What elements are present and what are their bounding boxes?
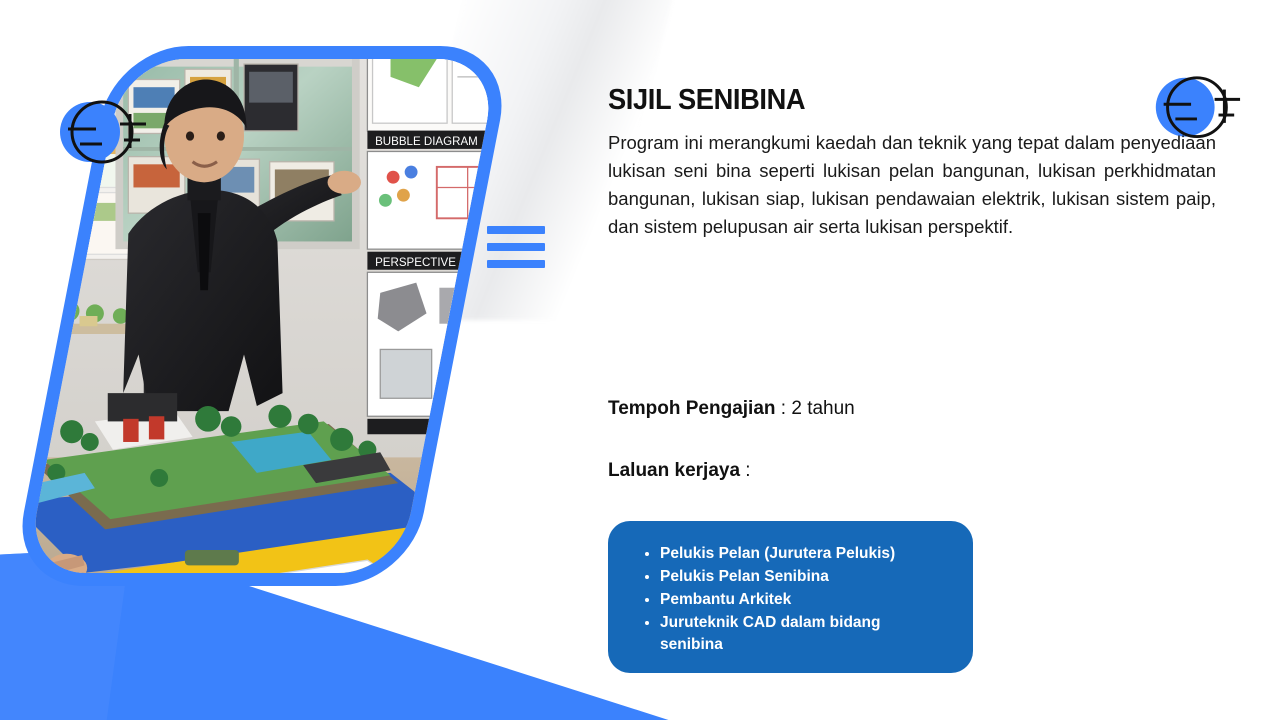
bar-3 — [487, 260, 545, 268]
program-description: Program ini merangkumi kaedah dan teknik… — [608, 129, 1216, 241]
list-item: Pelukis Pelan (Jurutera Pelukis) — [660, 543, 947, 565]
career-path-list: Pelukis Pelan (Jurutera Pelukis) Pelukis… — [642, 543, 947, 656]
list-item: Juruteknik CAD dalam bidang senibina — [660, 612, 947, 656]
list-item: Pembantu Arkitek — [660, 589, 947, 611]
content-column: SIJIL SENIBINA Program ini merangkumi ka… — [608, 84, 1218, 241]
svg-text:BUBBLE DIAGRAM: BUBBLE DIAGRAM — [375, 136, 478, 148]
detail-laluan-kerjaya: Laluan kerjaya : — [608, 460, 1228, 482]
page-title: SIJIL SENIBINA — [608, 84, 1181, 117]
list-item: Pelukis Pelan Senibina — [660, 566, 947, 588]
detail-separator: : — [776, 398, 792, 419]
three-bars-decoration-icon — [487, 226, 545, 268]
institution-logo-icon — [50, 92, 150, 172]
detail-label: Laluan kerjaya — [608, 460, 740, 481]
detail-separator: : — [740, 460, 751, 481]
bar-2 — [487, 243, 545, 251]
svg-text:PERSPECTIVE: PERSPECTIVE — [375, 257, 456, 269]
bar-1 — [487, 226, 545, 234]
slide-canvas: BUBBLE DIAGRAM PERSPECTIVE — [0, 0, 1280, 720]
detail-value: 2 tahun — [791, 398, 854, 419]
detail-tempoh-pengajian: Tempoh Pengajian : 2 tahun — [608, 398, 1228, 420]
career-path-card: Pelukis Pelan (Jurutera Pelukis) Pelukis… — [608, 521, 973, 673]
program-details: Tempoh Pengajian : 2 tahun Laluan kerjay… — [608, 398, 1228, 522]
detail-label: Tempoh Pengajian — [608, 398, 776, 419]
